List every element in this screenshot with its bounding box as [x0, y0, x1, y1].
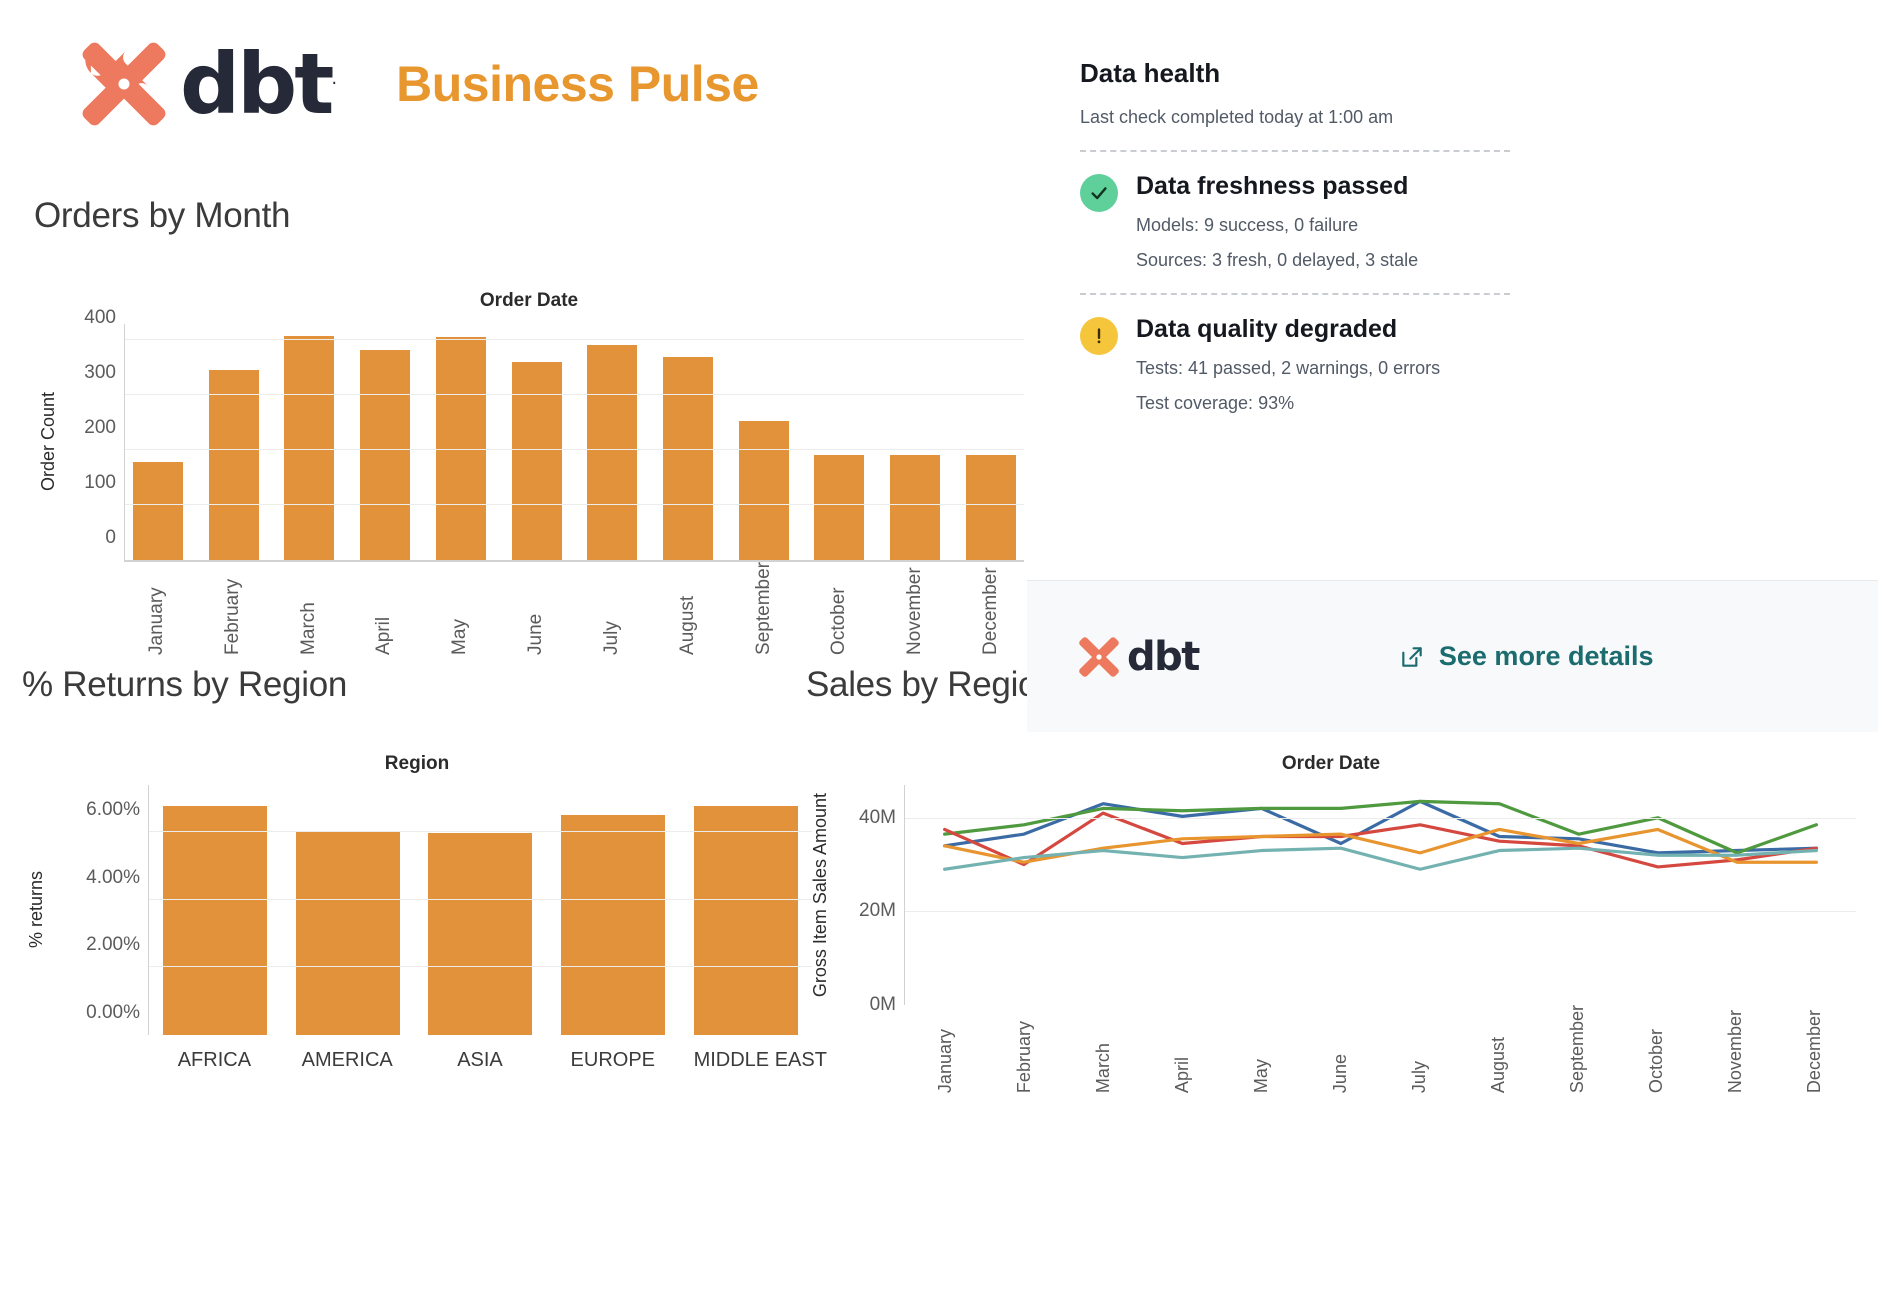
x-tick-label: May — [1222, 1005, 1301, 1093]
x-tick-label: February — [985, 1005, 1064, 1093]
data-health-subtitle: Last check completed today at 1:00 am — [1080, 107, 1510, 128]
x-tick-label: February — [208, 562, 258, 655]
health-item-title: Data quality degraded — [1136, 315, 1440, 344]
x-tick-label-text: June — [525, 562, 547, 655]
x-tick-label: July — [587, 562, 637, 655]
x-tick-label: April — [359, 562, 409, 655]
orders-y-axis-title: Order Count — [38, 392, 59, 491]
data-health-panel: Data health Last check completed today a… — [1080, 58, 1510, 414]
health-item-freshness: Data freshness passed Models: 9 success,… — [1080, 172, 1510, 271]
divider — [1080, 150, 1510, 152]
dbt-wordmark: dbt. — [180, 42, 334, 126]
x-tick-label: November — [1696, 1005, 1775, 1093]
x-tick-label-text: October — [828, 562, 850, 655]
x-tick-label: September — [1538, 1005, 1617, 1093]
bar[interactable] — [561, 815, 665, 1035]
sales-x-tick-labels: JanuaryFebruaryMarchAprilMayJuneJulyAugu… — [904, 1005, 1856, 1093]
x-tick-label-text: March — [1093, 1005, 1114, 1093]
check-circle-icon — [1080, 174, 1118, 212]
gridline — [125, 504, 1024, 505]
x-tick-label: MIDDLE EAST — [694, 1049, 798, 1072]
sales-plot-body: Gross Item Sales Amount 0M20M40M — [806, 785, 1856, 1005]
y-tick-label: 400 — [84, 307, 116, 329]
header: dbt. Business Pulse — [78, 38, 759, 130]
x-tick-label-text: August — [1488, 1005, 1509, 1093]
see-more-details-panel: dbt See more details — [1027, 580, 1878, 732]
dbt-wordmark: dbt — [1127, 634, 1199, 680]
x-tick-label-text: November — [904, 562, 926, 655]
x-tick-label-text: September — [1567, 1005, 1588, 1093]
y-tick-label: 100 — [84, 472, 116, 494]
x-tick-label: March — [1064, 1005, 1143, 1093]
x-tick-label: EUROPE — [561, 1049, 665, 1072]
x-tick-label: May — [435, 562, 485, 655]
x-tick-label-text: August — [677, 562, 699, 655]
sales-plot-area — [904, 785, 1856, 1005]
bar[interactable] — [814, 455, 864, 560]
returns-plot-area — [148, 785, 812, 1035]
dbt-x-icon — [1077, 635, 1121, 679]
x-tick-label-text: June — [1330, 1005, 1351, 1093]
x-tick-label: October — [1617, 1005, 1696, 1093]
x-tick-label-text: April — [373, 562, 395, 655]
x-tick-label: September — [739, 562, 789, 655]
see-more-details-label: See more details — [1439, 641, 1654, 672]
x-tick-label-text: January — [146, 562, 168, 655]
returns-plot-body: % returns 0.00%2.00%4.00%6.00% — [22, 785, 812, 1035]
y-tick-label: 2.00% — [86, 934, 140, 956]
returns-y-ticks: 0.00%2.00%4.00%6.00% — [50, 785, 148, 1035]
x-tick-label: January — [132, 562, 182, 655]
x-tick-label: November — [890, 562, 940, 655]
x-tick-label: August — [1459, 1005, 1538, 1093]
orders-by-month-chart: Orders by Month Order Date Order Count 0… — [34, 196, 1024, 654]
x-tick-label: June — [1301, 1005, 1380, 1093]
x-tick-label-text: March — [298, 562, 320, 655]
bar[interactable] — [890, 455, 940, 560]
y-tick-label: 40M — [859, 807, 896, 829]
x-tick-label: July — [1380, 1005, 1459, 1093]
x-tick-label: August — [663, 562, 713, 655]
x-tick-label: January — [906, 1005, 985, 1093]
bar[interactable] — [663, 357, 713, 560]
y-tick-label: 4.00% — [86, 867, 140, 889]
x-tick-label-text: December — [1804, 1005, 1825, 1093]
returns-section-heading: % Returns by Region — [22, 665, 812, 705]
sales-y-ticks: 0M20M40M — [834, 785, 904, 1005]
warning-circle-icon — [1080, 317, 1118, 355]
x-tick-label-text: May — [449, 562, 471, 655]
bar[interactable] — [296, 831, 400, 1035]
see-more-details-link[interactable]: See more details — [1399, 641, 1654, 672]
bar[interactable] — [587, 345, 637, 560]
health-item-title: Data freshness passed — [1136, 172, 1418, 201]
bar[interactable] — [966, 455, 1016, 560]
x-tick-label-text: April — [1172, 1005, 1193, 1093]
health-item-quality: Data quality degraded Tests: 41 passed, … — [1080, 315, 1510, 414]
bar[interactable] — [360, 350, 410, 560]
dashboard-page: dbt. Business Pulse Orders by Month Orde… — [0, 0, 1878, 1312]
orders-y-ticks: 0100200300400 — [62, 324, 124, 560]
health-item-detail-2: Sources: 3 fresh, 0 delayed, 3 stale — [1136, 250, 1418, 271]
health-item-detail-1: Models: 9 success, 0 failure — [1136, 215, 1418, 236]
y-tick-label: 0M — [870, 994, 896, 1016]
orders-section-heading: Orders by Month — [34, 196, 1024, 236]
bar[interactable] — [133, 462, 183, 560]
orders-plot-body: Order Count 0100200300400 — [34, 324, 1024, 560]
gridline — [905, 911, 1856, 912]
x-tick-label-text: July — [1409, 1005, 1430, 1093]
x-tick-label: AFRICA — [162, 1049, 266, 1072]
dbt-x-icon — [78, 38, 170, 130]
x-tick-label: June — [511, 562, 561, 655]
x-tick-label-text: February — [1014, 1005, 1035, 1093]
y-tick-label: 20M — [859, 900, 896, 922]
returns-by-region-chart: % Returns by Region Region % returns 0.0… — [22, 665, 812, 1072]
y-tick-label: 0 — [105, 527, 116, 549]
x-tick-label-text: May — [1251, 1005, 1272, 1093]
x-tick-label: ASIA — [428, 1049, 532, 1072]
gridline — [125, 449, 1024, 450]
divider — [1080, 293, 1510, 295]
sales-chart-top-label: Order Date — [806, 753, 1856, 775]
x-tick-label-text: December — [980, 562, 1002, 655]
x-tick-label-text: January — [935, 1005, 956, 1093]
gridline — [149, 899, 812, 900]
gridline — [125, 339, 1024, 340]
y-tick-label: 200 — [84, 417, 116, 439]
returns-chart-top-label: Region — [22, 753, 812, 775]
gridline — [125, 394, 1024, 395]
x-tick-label: December — [1775, 1005, 1854, 1093]
orders-plot-area — [124, 324, 1024, 560]
x-tick-label: April — [1143, 1005, 1222, 1093]
dbt-wordmark-text: dbt — [180, 35, 331, 133]
gridline — [905, 818, 1856, 819]
health-item-detail-1: Tests: 41 passed, 2 warnings, 0 errors — [1136, 358, 1440, 379]
page-title: Business Pulse — [396, 55, 759, 113]
orders-x-tick-labels: JanuaryFebruaryMarchAprilMayJuneJulyAugu… — [124, 562, 1024, 655]
x-tick-label: October — [814, 562, 864, 655]
dbt-wordmark-tm: . — [331, 68, 334, 89]
x-tick-label-text: September — [753, 562, 775, 655]
orders-chart-top-label: Order Date — [34, 290, 1024, 312]
bar[interactable] — [694, 806, 798, 1035]
y-tick-label: 0.00% — [86, 1002, 140, 1024]
sales-y-axis-title: Gross Item Sales Amount — [810, 793, 831, 997]
x-tick-label-text: November — [1725, 1005, 1746, 1093]
x-tick-label: AMERICA — [295, 1049, 399, 1072]
gridline — [149, 966, 812, 967]
bar[interactable] — [512, 362, 562, 560]
x-tick-label-text: July — [601, 562, 623, 655]
dbt-logo-small: dbt — [1077, 634, 1199, 680]
dbt-logo: dbt. — [78, 38, 334, 130]
external-link-icon — [1399, 644, 1425, 670]
bar[interactable] — [284, 336, 334, 560]
returns-y-axis-title: % returns — [26, 871, 47, 948]
bar[interactable] — [209, 370, 259, 560]
x-tick-label: March — [284, 562, 334, 655]
data-health-title: Data health — [1080, 58, 1510, 89]
gridline — [149, 831, 812, 832]
bar[interactable] — [163, 806, 267, 1035]
x-tick-label-text: October — [1646, 1005, 1667, 1093]
bar[interactable] — [428, 833, 532, 1035]
x-tick-label-text: February — [222, 562, 244, 655]
x-tick-label: December — [966, 562, 1016, 655]
y-tick-label: 300 — [84, 362, 116, 384]
returns-x-tick-labels: AFRICAAMERICAASIAEUROPEMIDDLE EAST — [148, 1049, 812, 1072]
bar[interactable] — [739, 421, 789, 560]
y-tick-label: 6.00% — [86, 799, 140, 821]
health-item-detail-2: Test coverage: 93% — [1136, 393, 1440, 414]
